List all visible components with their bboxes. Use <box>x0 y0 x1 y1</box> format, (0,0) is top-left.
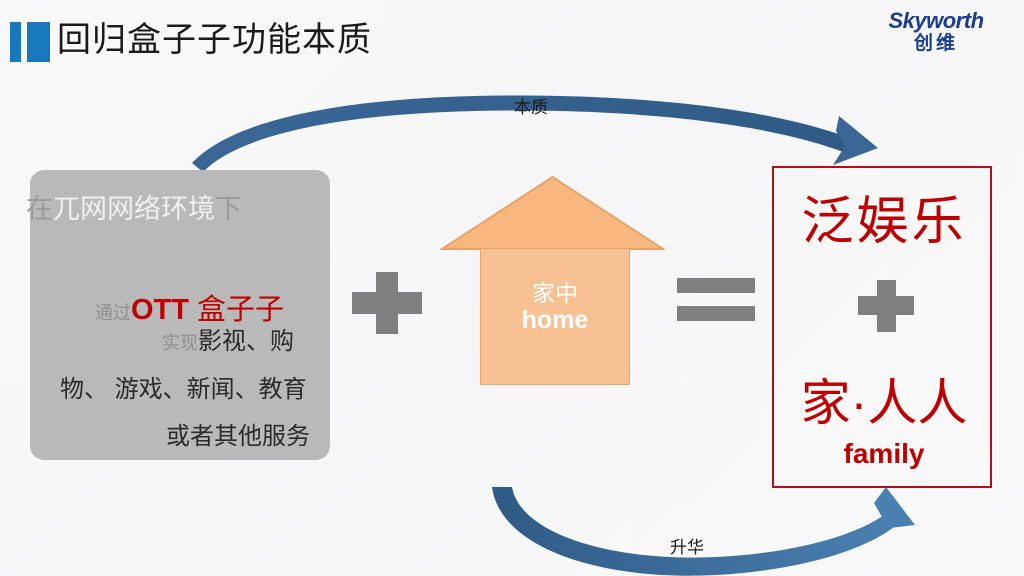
plus-operator-left-icon <box>352 272 422 332</box>
house-label: 家中 home <box>480 280 630 335</box>
red-box-line-2: 家·人人 <box>774 378 994 428</box>
gray-box-brand-ott: OTT <box>131 294 189 326</box>
title-bullet-thin-icon <box>10 22 21 62</box>
logo-english-text: Skyworth <box>856 8 1016 33</box>
gray-box-line-1-suffix: 下 <box>215 194 242 224</box>
gray-box-line-3-rest: 影视、购 <box>198 328 294 355</box>
red-result-box: 泛娱乐 家·人人 family <box>772 166 992 488</box>
logo-chinese-text: 创维 <box>856 33 1016 55</box>
gray-content-box: 在兀网网络环境下 通过OTT 盒子子 实现影视、购 物、 游戏、新闻、教育 或者… <box>30 170 330 460</box>
skyworth-logo: Skyworth 创维 <box>856 8 1016 60</box>
equals-operator-icon <box>677 278 755 324</box>
gray-box-line-2-prefix: 通过 <box>95 303 131 323</box>
gray-box-line-1: 在兀网网络环境下 <box>26 196 242 223</box>
gray-box-emphasis: 盒子子 <box>189 294 284 326</box>
gray-box-line-4: 物、 游戏、新闻、教育 <box>60 378 307 402</box>
equals-bar-top <box>677 278 755 293</box>
gray-box-line-3: 实现影视、购 <box>162 330 294 354</box>
slide-canvas: 回归盒子子功能本质 Skyworth 创维 本质 升华 <box>0 0 1024 576</box>
arrow-bottom-sublimation-icon <box>492 487 915 576</box>
house-label-english: home <box>480 306 630 335</box>
gray-box-line-1-highlight: 兀网网络环境 <box>53 194 215 224</box>
house-roof-icon <box>440 175 665 255</box>
title-bullet-wide-icon <box>27 22 50 62</box>
arrow-top-label: 本质 <box>514 93 548 118</box>
gray-box-line-2: 通过OTT 盒子子 <box>95 296 284 325</box>
arrow-bottom-label: 升华 <box>670 533 704 558</box>
gray-box-line-1-prefix: 在 <box>26 194 53 224</box>
plus-operator-inside-red-icon <box>858 280 914 332</box>
red-box-line-1: 泛娱乐 <box>774 196 994 248</box>
gray-box-line-3-prefix: 实现 <box>162 333 198 353</box>
equals-bar-bottom <box>677 306 755 321</box>
gray-box-line-5: 或者其他服务 <box>166 425 310 449</box>
house-shape: 家中 home <box>440 175 665 385</box>
page-title: 回归盒子子功能本质 <box>57 14 372 66</box>
red-box-line-3: family <box>774 440 994 468</box>
house-label-chinese: 家中 <box>480 280 630 306</box>
